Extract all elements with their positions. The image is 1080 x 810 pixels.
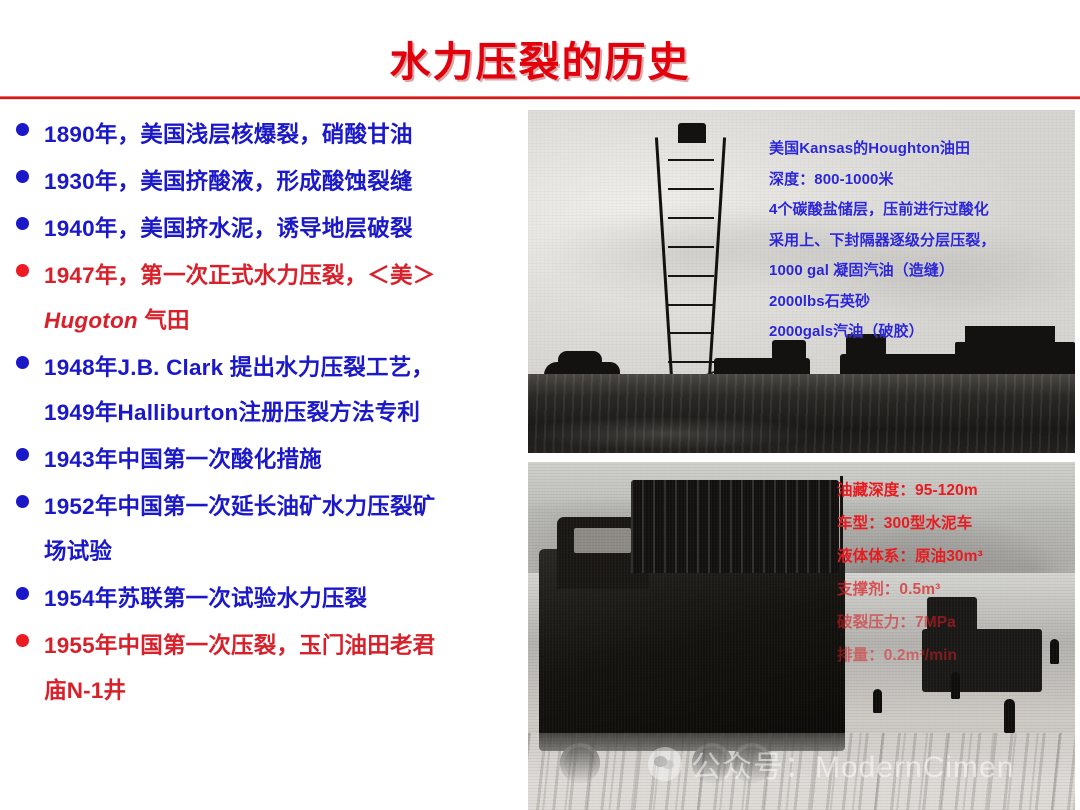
bullet-dot-icon	[16, 448, 29, 461]
caption-line: 4个碳酸盐储层，压前进行过酸化	[769, 195, 1069, 226]
bullet-dot-icon	[16, 217, 29, 230]
bullet-text: 1890年，美国浅层核爆裂，硝酸甘油	[44, 112, 524, 157]
watermark: 公众号：ModernCimen	[648, 742, 1014, 786]
caption-line: 深度：800-1000米	[769, 165, 1069, 196]
watermark-text: 公众号：ModernCimen	[691, 742, 1014, 786]
list-item: 1890年，美国浅层核爆裂，硝酸甘油	[10, 112, 524, 157]
crown-block	[678, 123, 706, 143]
bullet-line-2: 气田	[138, 308, 190, 333]
bullet-dot-icon	[16, 356, 29, 369]
caption-line: 2000lbs石英砂	[769, 287, 1069, 318]
mast-brace	[668, 275, 714, 277]
photo-top-caption: 美国Kansas的Houghton油田 深度：800-1000米 4个碳酸盐储层…	[769, 134, 1069, 348]
caption-line: 液体体系：原油30m³	[837, 540, 1069, 573]
mast-brace	[668, 159, 714, 161]
list-item-highlight: 1947年，第一次正式水力压裂，＜美＞Hugoton 气田	[10, 253, 524, 343]
list-item: 1943年中国第一次酸化措施	[10, 437, 524, 482]
history-bullet-list: 1890年，美国浅层核爆裂，硝酸甘油 1930年，美国挤酸液，形成酸蚀裂缝 19…	[0, 106, 528, 810]
truck-deck-equipment	[631, 480, 839, 573]
ground	[528, 374, 1075, 453]
list-item: 1952年中国第一次延长油矿水力压裂矿 场试验	[10, 484, 524, 574]
caption-line: 排量：0.2m³/min	[837, 639, 1069, 672]
bullet-dot-icon	[16, 634, 29, 647]
bullet-text: 1952年中国第一次延长油矿水力压裂矿 场试验	[44, 484, 524, 574]
caption-line: 美国Kansas的Houghton油田	[769, 134, 1069, 165]
bullet-text: 1948年J.B. Clark 提出水力压裂工艺， 1949年Halliburt…	[44, 345, 524, 435]
bullet-text: 1930年，美国挤酸液，形成酸蚀裂缝	[44, 159, 524, 204]
mast-brace	[668, 217, 714, 219]
bullet-text: 1947年，第一次正式水力压裂，＜美＞Hugoton 气田	[44, 253, 524, 343]
list-item: 1930年，美国挤酸液，形成酸蚀裂缝	[10, 159, 524, 204]
worker-figure	[873, 689, 882, 713]
mast-brace	[668, 246, 714, 248]
list-item: 1940年，美国挤水泥，诱导地层破裂	[10, 206, 524, 251]
caption-line: 2000gals汽油（破胶）	[769, 317, 1069, 348]
caption-line: 支撑剂：0.5m³	[837, 573, 1069, 606]
photo-bottom-caption: 油藏深度：95-120m 车型：300型水泥车 液体体系：原油30m³ 支撑剂：…	[837, 474, 1069, 672]
bullet-text: 1954年苏联第一次试验水力压裂	[44, 576, 524, 621]
caption-line: 1000 gal 凝固汽油（造缝）	[769, 256, 1069, 287]
bullet-dot-icon	[16, 495, 29, 508]
bullet-line-1: 1947年，第一次正式水力压裂，＜美＞	[44, 263, 435, 288]
bullet-dot-icon	[16, 123, 29, 136]
bullet-dot-icon	[16, 170, 29, 183]
cement-truck-300	[539, 549, 845, 751]
derrick-mast	[670, 137, 671, 377]
list-item: 1948年J.B. Clark 提出水力压裂工艺， 1949年Halliburt…	[10, 345, 524, 435]
mast-brace	[668, 188, 714, 190]
caption-line: 采用上、下封隔器逐级分层压裂，	[769, 226, 1069, 257]
bullet-dot-icon	[16, 264, 29, 277]
list-item: 1954年苏联第一次试验水力压裂	[10, 576, 524, 621]
worker-figure	[1004, 699, 1015, 733]
wechat-logo-icon	[648, 747, 682, 781]
caption-line: 车型：300型水泥车	[837, 507, 1069, 540]
list-item-highlight: 1955年中国第一次压裂，玉门油田老君 庙N-1井	[10, 623, 524, 713]
page-title: 水力压裂的历史	[0, 28, 1080, 88]
photo-yumen-cement-truck: 油藏深度：95-120m 车型：300型水泥车 液体体系：原油30m³ 支撑剂：…	[528, 462, 1075, 810]
worker-figure	[951, 672, 960, 699]
title-divider-rule	[0, 96, 1080, 100]
mast-brace	[668, 361, 714, 363]
caption-line: 破裂压力：7MPa	[837, 606, 1069, 639]
bullet-dot-icon	[16, 587, 29, 600]
bullet-italic-term: Hugoton	[44, 308, 138, 333]
photo-kansas-houghton-rig: 美国Kansas的Houghton油田 深度：800-1000米 4个碳酸盐储层…	[528, 110, 1075, 453]
mast-brace	[668, 304, 714, 306]
bullet-text: 1943年中国第一次酸化措施	[44, 437, 524, 482]
bullet-text: 1940年，美国挤水泥，诱导地层破裂	[44, 206, 524, 251]
bullet-text: 1955年中国第一次压裂，玉门油田老君 庙N-1井	[44, 623, 524, 713]
mast-brace	[668, 332, 714, 334]
caption-line: 油藏深度：95-120m	[837, 474, 1069, 507]
